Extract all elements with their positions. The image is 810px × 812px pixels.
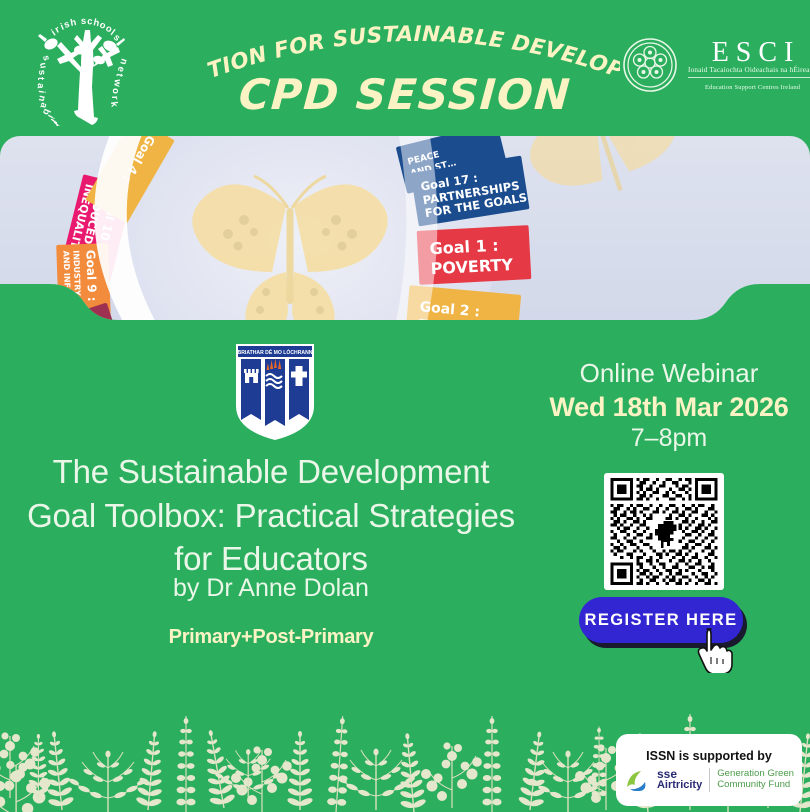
qr-code-svg [609,478,719,585]
sponsor-badge: ISSN is supported by sse Airtricity Gene… [616,734,802,806]
event-time: 7–8pm [530,424,808,453]
svg-text:h: h [69,17,77,29]
svg-text:n: n [117,57,129,66]
esci-subtitle-irish: Ionaid Tacaíochta Oideachais na hÉireann [688,67,810,74]
svg-text:Goal 1 :: Goal 1 : [429,236,499,259]
esci-wordmark: ESCI [705,39,801,67]
audience-badge: Primary+Post-Primary [14,626,528,649]
esci-logo: ESCI Ionaid Tacaíochta Oideachais na hÉi… [622,34,794,96]
session-title: The Sustainable Development Goal Toolbox… [14,450,528,581]
svg-text:Goal 9 :: Goal 9 : [83,250,99,302]
hero-photo: Goal 10 : REDUCED INEQUALITIES Goal 9 : … [0,136,810,334]
sponsor-title: ISSN is supported by [646,749,772,763]
sse-brand-line2: Airtricity [657,780,702,791]
esci-celtic-knot-icon [622,37,678,93]
registration-qr-code[interactable] [604,473,724,590]
sse-airtricity-icon [624,769,650,791]
event-date: Wed 18th Mar 2026 [530,392,808,423]
crest-motto: BRIATHAR DÉ MO LÓCHRANN [238,348,313,356]
poster-header: i r i s h s c h o o l s s u s t a [0,0,810,136]
fund-line1: Generation Green [717,769,794,780]
svg-text:s: s [81,16,87,27]
svg-text:ECONOMIC GROWTH: ECONOMIC GROWTH [63,320,103,334]
svg-text:u: u [37,62,49,69]
fund-line2: Community Fund [717,780,794,791]
sponsor-divider [709,768,710,792]
svg-text:DECENT WORK: DECENT WORK [72,317,103,334]
school-crest: BRIATHAR DÉ MO LÓCHRANN [236,344,314,440]
sponsor-logos: sse Airtricity Generation Green Communit… [624,768,794,792]
session-presenter: by Dr Anne Dolan [14,574,528,603]
generation-green-fund: Generation Green Community Fund [717,769,794,790]
esci-subtitle-english: Education Support Centres Ireland [705,85,800,91]
esci-divider [688,77,810,78]
svg-text:s: s [40,54,52,61]
poster-canvas: i r i s h s c h o o l s s u s t a [0,0,810,812]
school-crest-icon: BRIATHAR DÉ MO LÓCHRANN [236,344,314,440]
event-format: Online Webinar [530,358,808,389]
hero-photo-svg: Goal 10 : REDUCED INEQUALITIES Goal 9 : … [0,136,810,334]
